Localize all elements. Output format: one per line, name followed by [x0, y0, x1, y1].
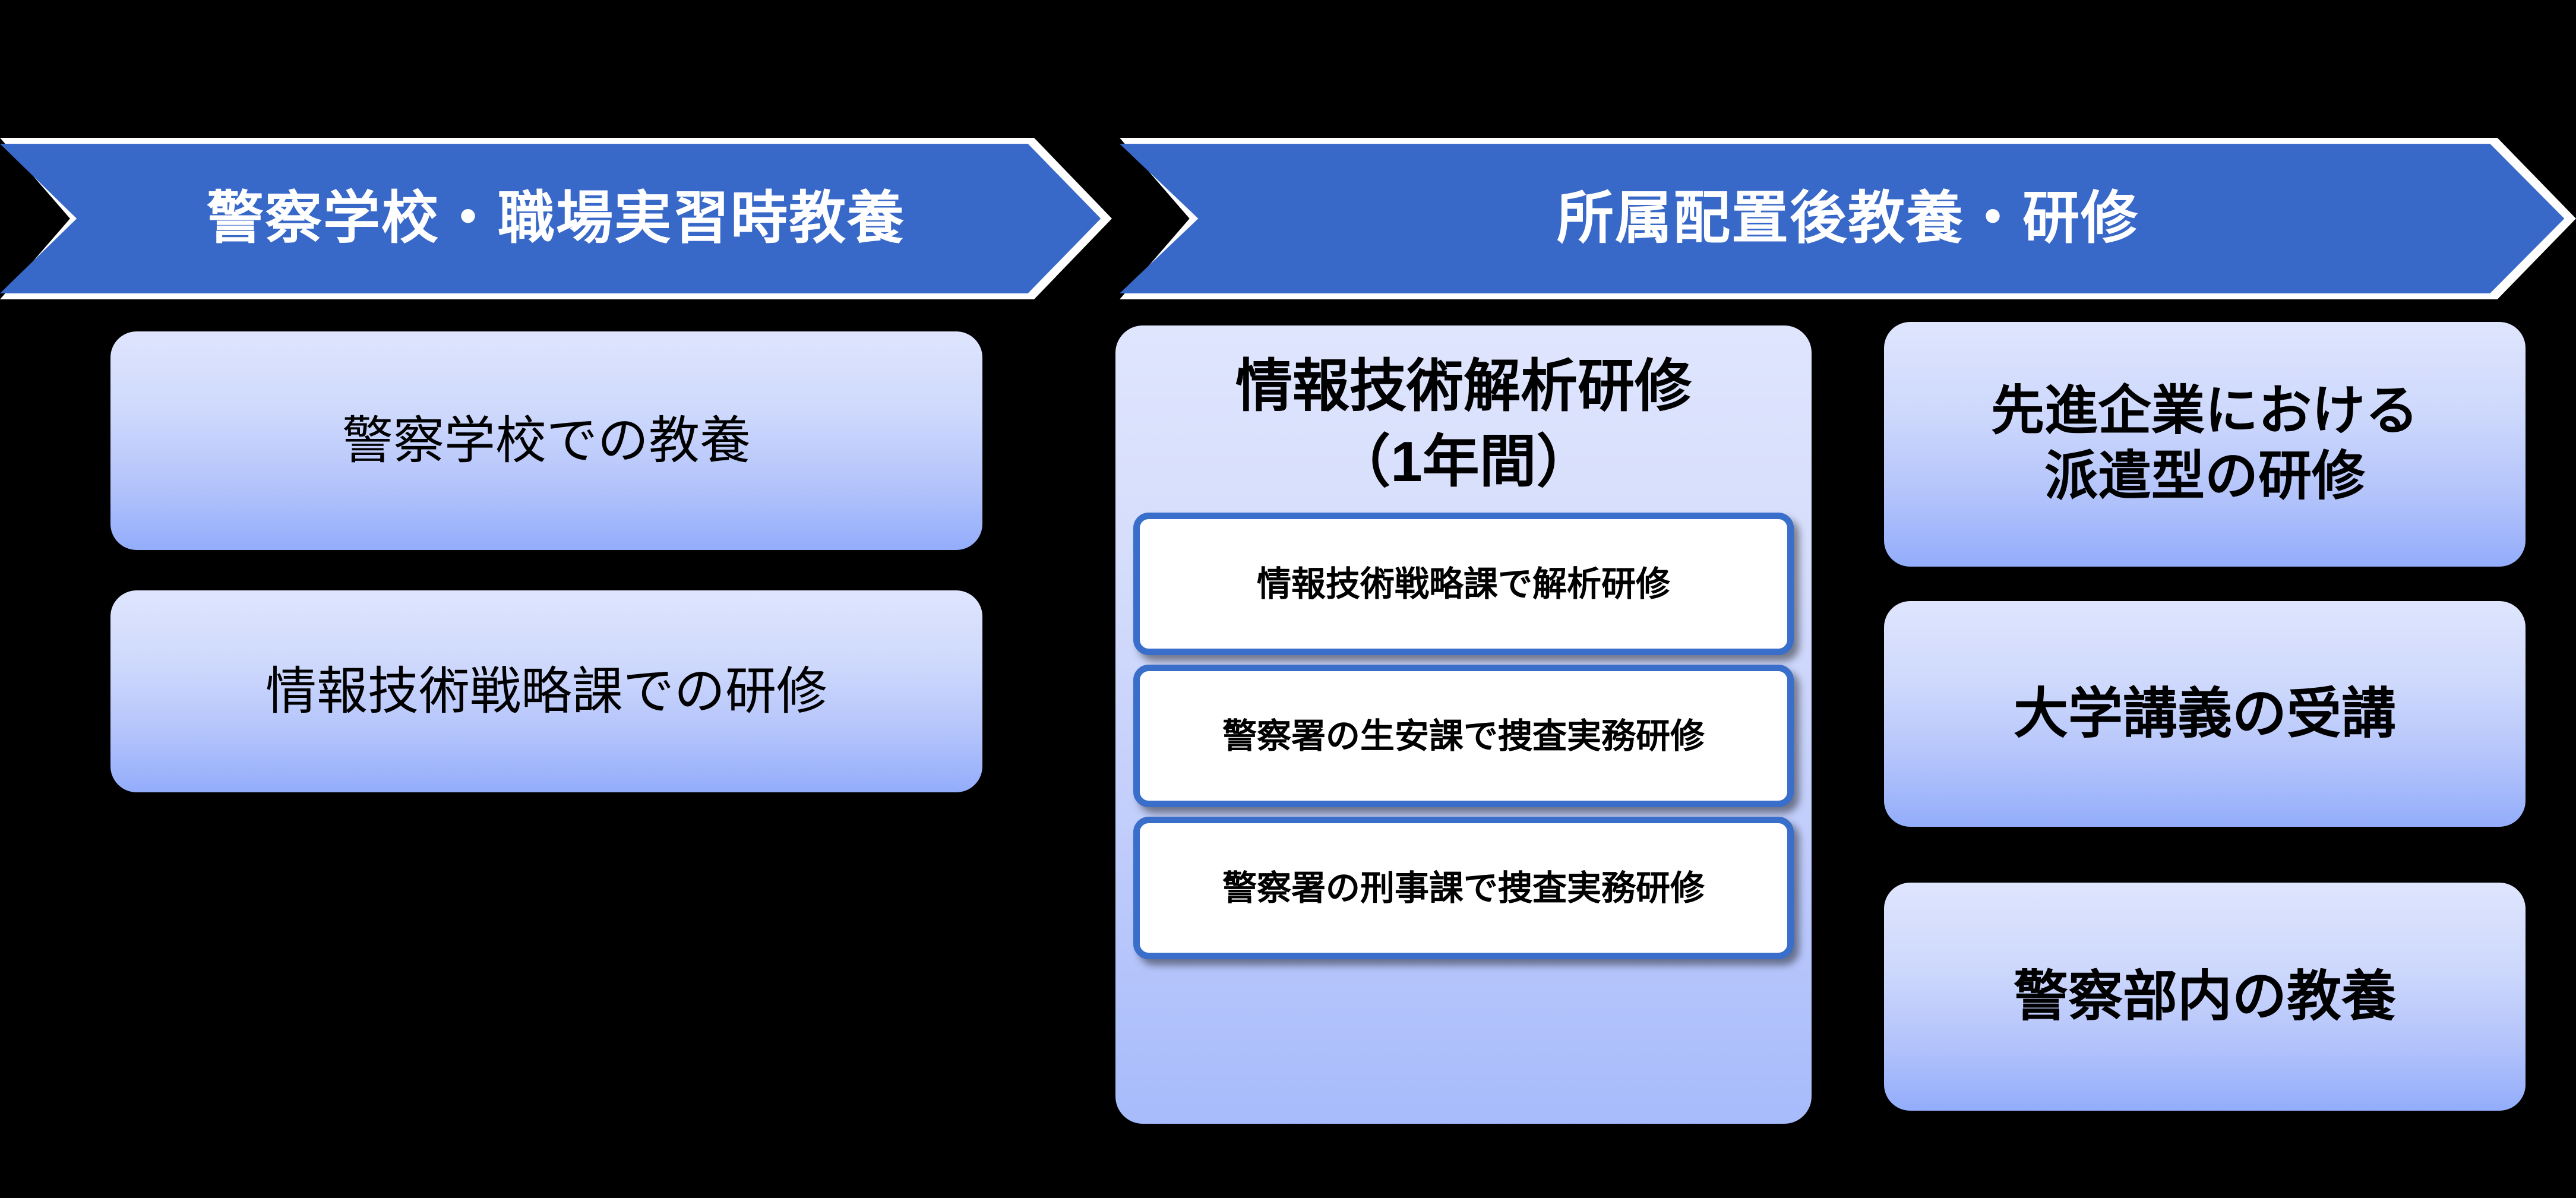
box-label-line1: 先進企業における: [1991, 381, 2419, 441]
sub-item-investigation-training-criminal-affairs[interactable]: 警察署の刑事課で捜査実務研修: [1133, 817, 1794, 959]
box-internal-police-education[interactable]: 警察部内の教養: [1884, 883, 2526, 1111]
panel-title-line1: 情報技術解析研修: [1235, 349, 1692, 425]
box-label-wrapper: 先進企業における 派遣型の研修: [1991, 379, 2419, 510]
panel-sub-item-list: 情報技術戦略課で解析研修 警察署の生安課で捜査実務研修 警察署の刑事課で捜査実務…: [1133, 513, 1794, 959]
box-label: 警察部内の教養: [2014, 963, 2396, 1030]
box-police-school-education[interactable]: 警察学校での教養: [110, 331, 982, 550]
banner-police-school-training[interactable]: 警察学校・職場実習時教養: [0, 138, 1112, 299]
sub-item-analysis-training-it-strategy[interactable]: 情報技術戦略課で解析研修: [1133, 513, 1794, 655]
box-label-line2: 派遣型の研修: [2044, 447, 2365, 506]
box-advanced-company-dispatch[interactable]: 先進企業における 派遣型の研修: [1884, 322, 2526, 567]
panel-information-technology-analysis-training[interactable]: 情報技術解析研修 （1年間） 情報技術戦略課で解析研修 警察署の生安課で捜査実務…: [1115, 325, 1812, 1124]
sub-item-label: 警察署の刑事課で捜査実務研修: [1222, 868, 1705, 909]
sub-item-label: 情報技術戦略課で解析研修: [1257, 564, 1670, 605]
box-label: 情報技術戦略課での研修: [265, 660, 827, 723]
banner-label-police-school-training: 警察学校・職場実習時教養: [207, 190, 905, 247]
stage-banner-row: 警察学校・職場実習時教養 所属配置後教養・研修: [0, 138, 2576, 299]
sub-item-investigation-training-community-safety[interactable]: 警察署の生安課で捜査実務研修: [1133, 665, 1794, 807]
box-it-strategy-division-training[interactable]: 情報技術戦略課での研修: [110, 590, 982, 792]
box-label: 警察学校での教養: [342, 410, 751, 472]
banner-label-post-assignment-training: 所属配置後教養・研修: [1557, 190, 2139, 247]
panel-title: 情報技術解析研修 （1年間）: [1235, 349, 1692, 500]
box-label: 大学講義の受講: [2014, 681, 2396, 747]
box-university-lecture[interactable]: 大学講義の受講: [1884, 601, 2526, 827]
panel-title-line2: （1年間）: [1235, 425, 1692, 500]
banner-post-assignment-training[interactable]: 所属配置後教養・研修: [1120, 138, 2576, 299]
sub-item-label: 警察署の生安課で捜査実務研修: [1222, 716, 1705, 757]
